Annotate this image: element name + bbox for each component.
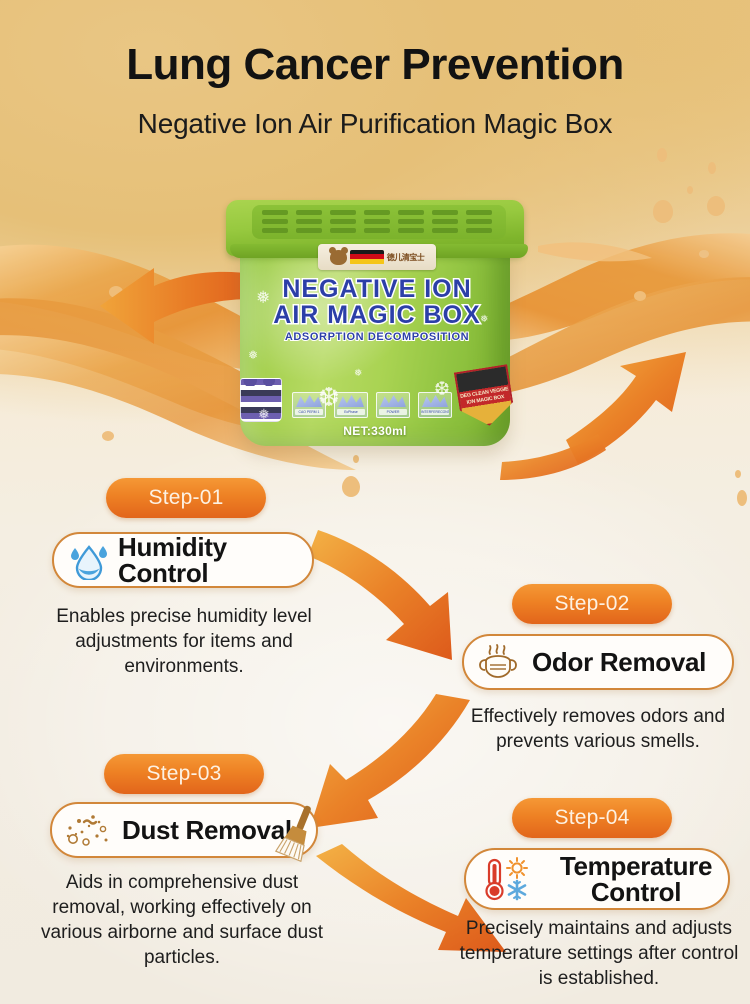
step-card-2[interactable]: Odor Removal	[462, 634, 734, 690]
step-description-4: Precisely maintains and adjusts temperat…	[452, 916, 746, 991]
snowflake-decor-6: ❅	[354, 368, 362, 379]
product-crystal-3: POWER	[376, 392, 410, 418]
product-lid-vents	[252, 205, 506, 239]
snowflake-decor-3: ❅	[258, 406, 270, 423]
bear-mascot-icon	[330, 250, 347, 265]
step-badge-4: Step-04	[512, 798, 672, 838]
step-description-3: Aids in comprehensive dust removal, work…	[36, 870, 328, 970]
page-subtitle: Negative Ion Air Purification Magic Box	[0, 108, 750, 140]
broom-icon	[268, 800, 328, 862]
step-title-3: Dust Removal	[122, 817, 292, 843]
step-badge-3: Step-03	[104, 754, 264, 794]
product-net-weight: NET:330ml	[222, 424, 528, 438]
water-drop-icon	[68, 540, 110, 580]
product-label-line2: AIR MAGIC BOX	[252, 302, 502, 328]
step-badge-1: Step-01	[106, 478, 266, 518]
german-flag-icon	[350, 250, 384, 265]
product-label-line1: NEGATIVE ION	[252, 276, 502, 302]
product-brand-name: 德儿清宝士	[387, 252, 425, 263]
thermometer-icon	[480, 855, 538, 903]
step-title-2: Odor Removal	[532, 649, 706, 675]
snowflake-decor-1: ❅	[256, 288, 270, 308]
step-title-4-line1: Temperature	[544, 853, 728, 879]
product-label-line3: ADSORPTION DECOMPOSITION	[252, 331, 502, 343]
step-card-1[interactable]: Humidity Control	[52, 532, 314, 588]
arrow-step2-to-step3	[310, 694, 470, 828]
arrow-step1-to-step2	[308, 530, 452, 660]
page-title: Lung Cancer Prevention	[0, 40, 750, 90]
step-description-2: Effectively removes odors and prevents v…	[452, 704, 744, 754]
step-description-1: Enables precise humidity level adjustmen…	[44, 604, 324, 679]
step-title-4: Temperature Control	[544, 853, 728, 905]
product-image: 德儿清宝士 NEGATIVE ION AIR MAGIC BOX ADSORPT…	[222, 196, 528, 458]
step-title-1: Humidity Control	[118, 534, 312, 586]
snowflake-decor-5: ❆	[434, 378, 450, 401]
snowflake-decor-4: ❆	[318, 382, 340, 413]
step-badge-2: Step-02	[512, 584, 672, 624]
product-label-text: NEGATIVE ION AIR MAGIC BOX ADSORPTION DE…	[252, 276, 502, 343]
snowflake-decor-7: ❅	[480, 314, 488, 325]
dust-particles-icon	[62, 809, 118, 851]
product-brand-logo: 德儿清宝士	[318, 244, 436, 270]
step-title-4-line2: Control	[544, 879, 728, 905]
face-mask-icon	[476, 641, 522, 683]
step-card-4[interactable]: Temperature Control	[464, 848, 730, 910]
snowflake-decor-2: ❅	[248, 348, 258, 362]
